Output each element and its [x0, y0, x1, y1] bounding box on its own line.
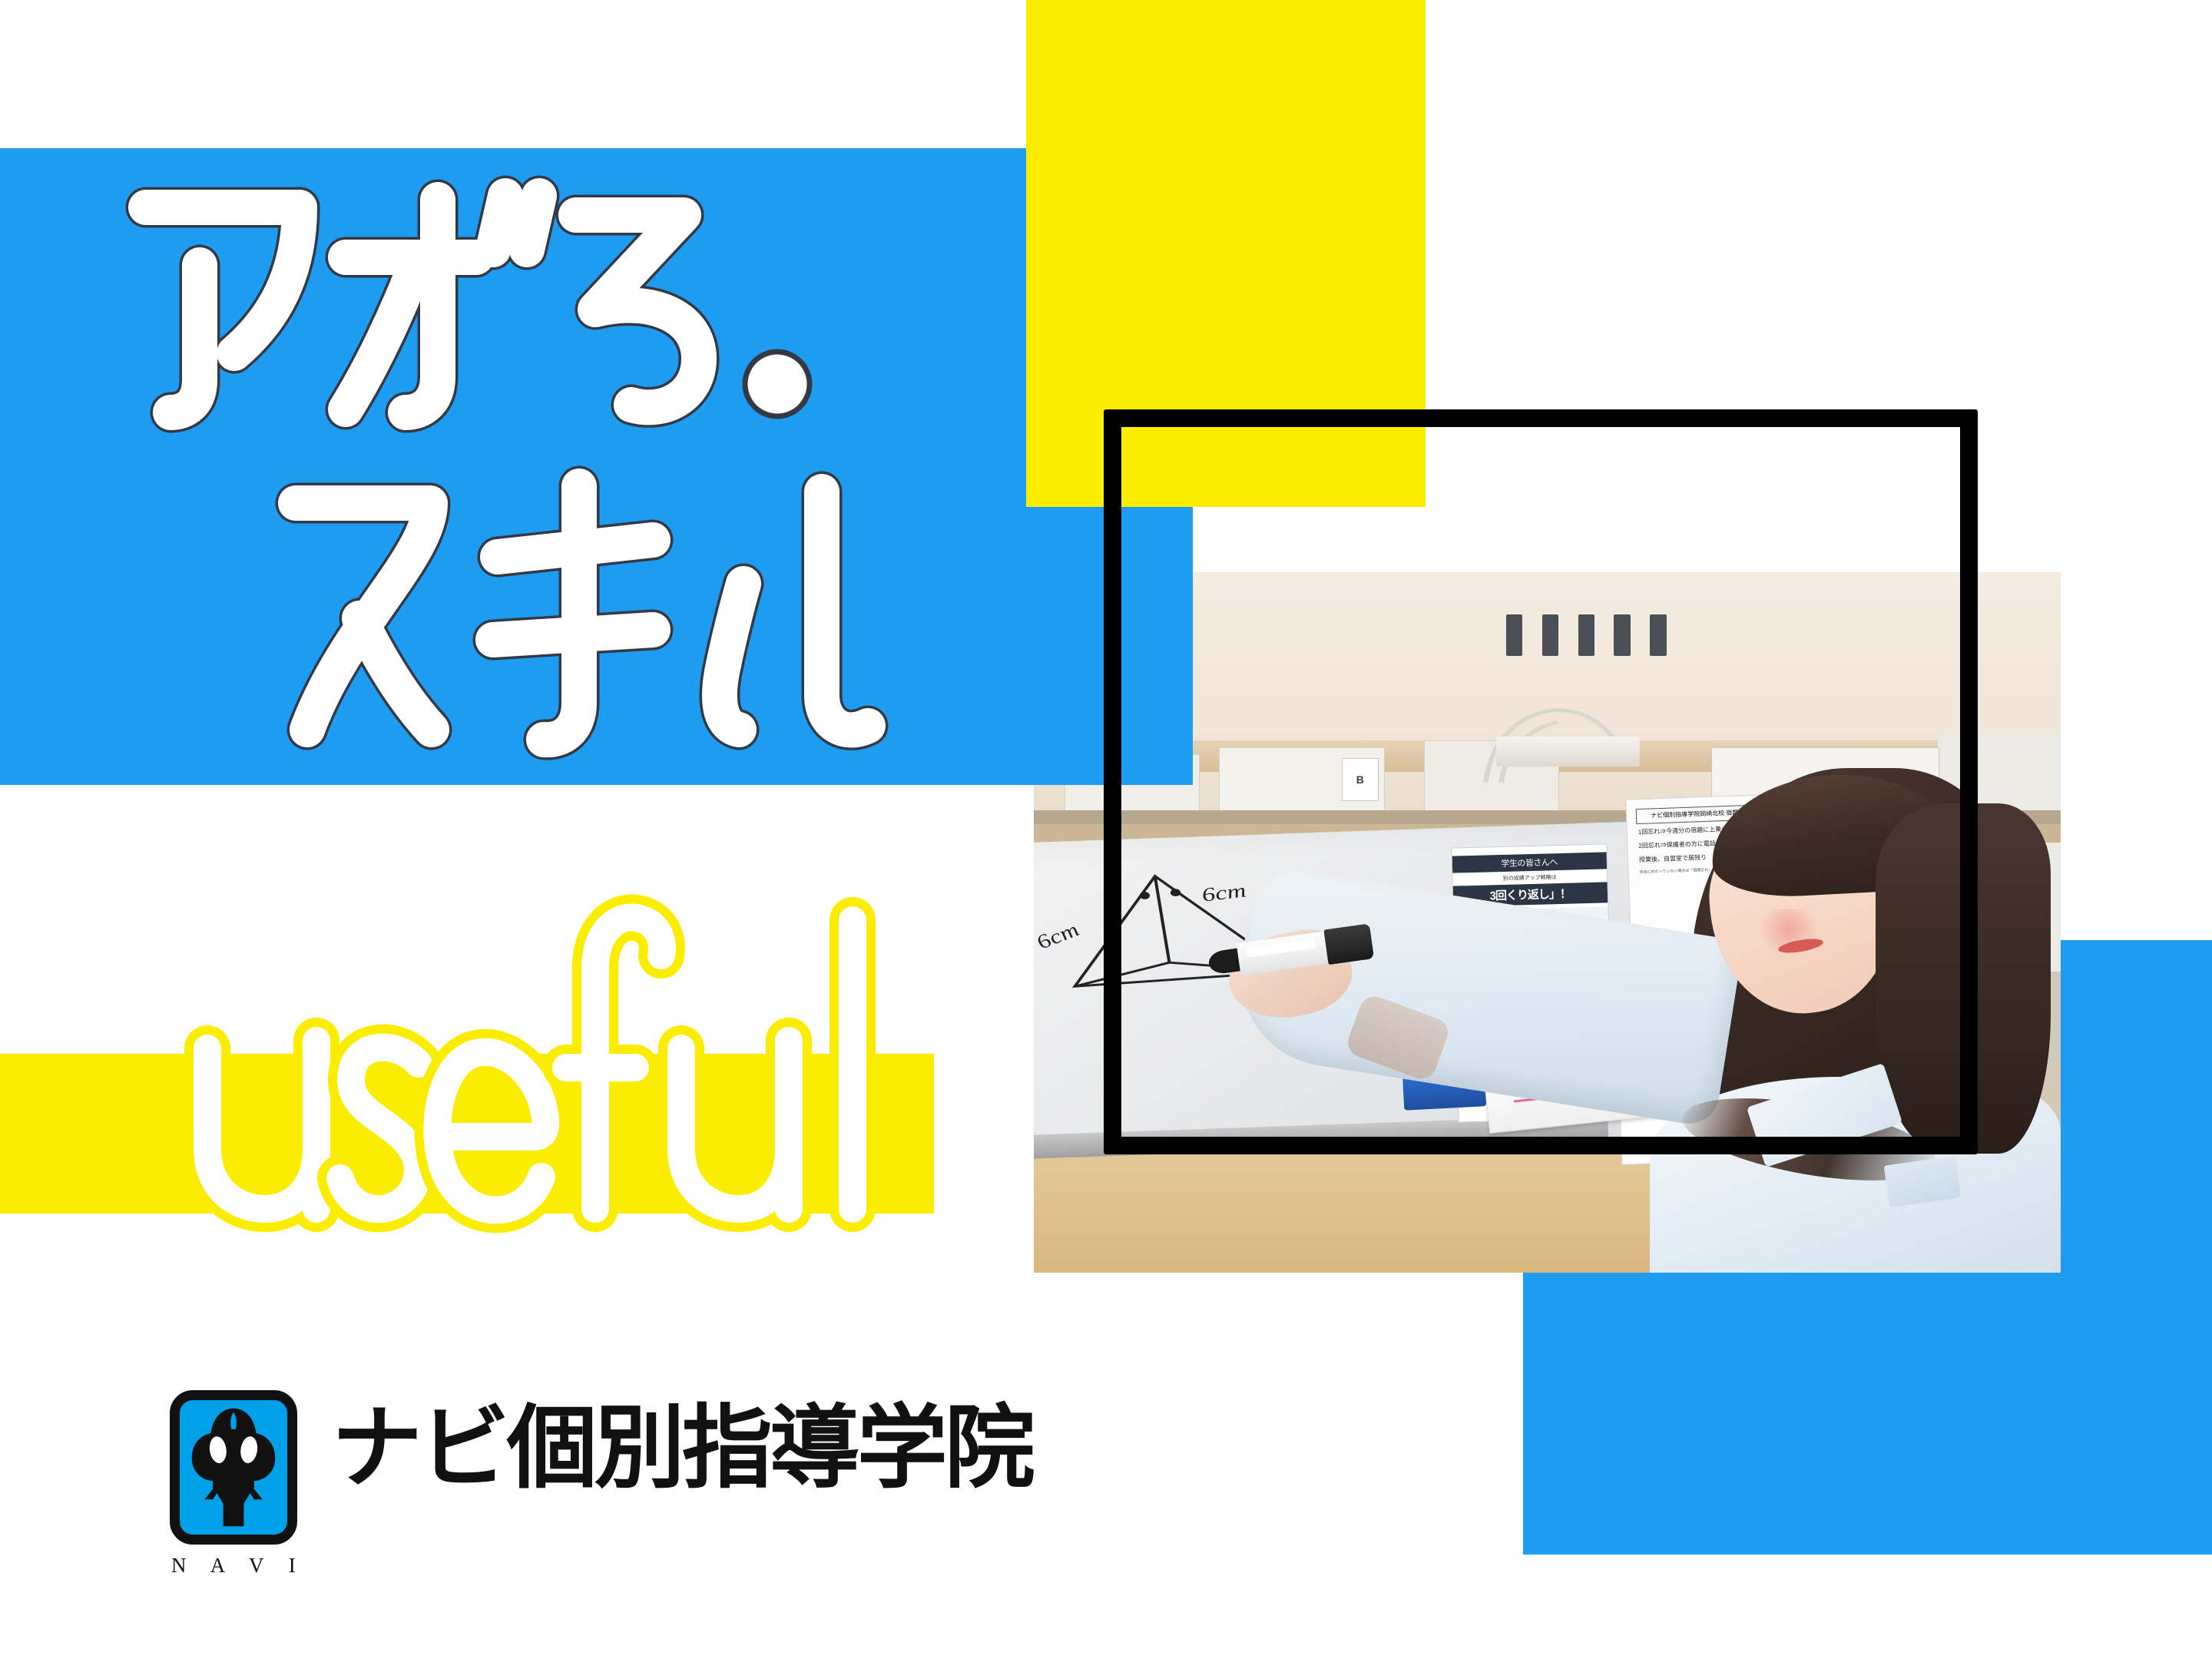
logo-navi-text: N A V I — [161, 1554, 306, 1578]
letter-s — [340, 1048, 419, 1210]
letter-e — [437, 1052, 545, 1210]
navi-character-icon — [170, 1390, 297, 1545]
logo-company-name: ナビ個別指導学院 — [332, 1402, 1032, 1493]
decorative-black-frame — [1104, 409, 1978, 1154]
useful-wordmark — [165, 883, 933, 1244]
logo-mark-group: N A V I — [161, 1390, 306, 1578]
letter-u-2 — [681, 1041, 789, 1209]
letter-u-1 — [207, 1041, 316, 1209]
blue-block-left — [0, 148, 1193, 785]
letter-f — [566, 917, 662, 1209]
diagram-label-6cm-left: 6cm — [1034, 919, 1084, 954]
brand-logo: N A V I ナビ個別指導学院 — [161, 1390, 1032, 1578]
poster-canvas: B — [0, 0, 2212, 1659]
